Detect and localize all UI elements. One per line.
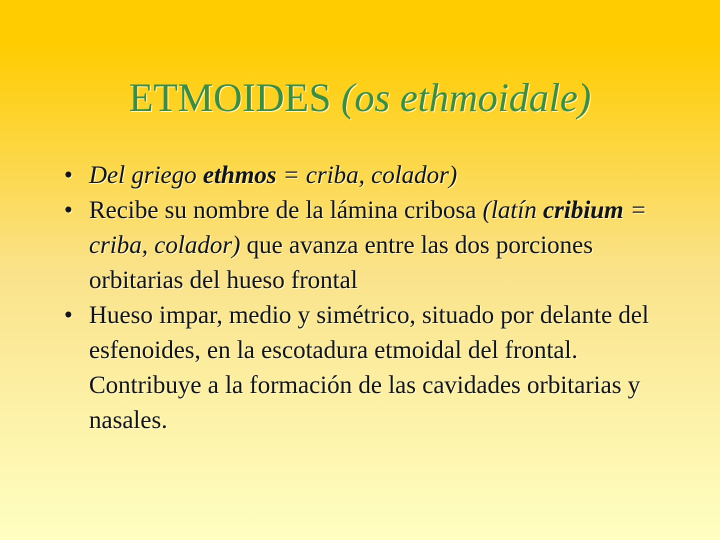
text-run: Del griego [89, 162, 203, 189]
bullet-origin-text: Del griego ethmos = criba, colador) [89, 162, 457, 189]
text-run: Recibe su nombre de la lámina cribosa [89, 197, 483, 224]
text-run: cribium [543, 197, 624, 224]
bullet-description-text: Hueso impar, medio y simétrico, situado … [89, 302, 649, 434]
bullet-icon: • [64, 158, 80, 193]
text-run: (latín [483, 197, 543, 224]
list-item: • Recibe su nombre de la lámina cribosa … [58, 193, 676, 298]
text-run: Hueso impar, medio y simétrico, situado … [89, 302, 649, 434]
bullet-name-text: Recibe su nombre de la lámina cribosa (l… [89, 197, 647, 294]
content-bullet-list: • Del griego ethmos = criba, colador) • … [58, 158, 676, 438]
list-item: • Hueso impar, medio y simétrico, situad… [58, 298, 676, 438]
list-item: • Del griego ethmos = criba, colador) [58, 158, 676, 193]
text-run: = criba, colador) [277, 162, 458, 189]
page-title-main: ETMOIDES [129, 75, 331, 120]
bullet-icon: • [64, 298, 80, 333]
page-title: ETMOIDES (os ethmoidale) [0, 74, 720, 122]
text-run: ethmos [203, 162, 277, 189]
page-title-spacer [331, 75, 341, 120]
bullet-icon: • [64, 193, 80, 228]
slide-canvas: ETMOIDES (os ethmoidale) • Del griego et… [0, 0, 720, 540]
page-title-latin: (os ethmoidale) [341, 75, 591, 120]
